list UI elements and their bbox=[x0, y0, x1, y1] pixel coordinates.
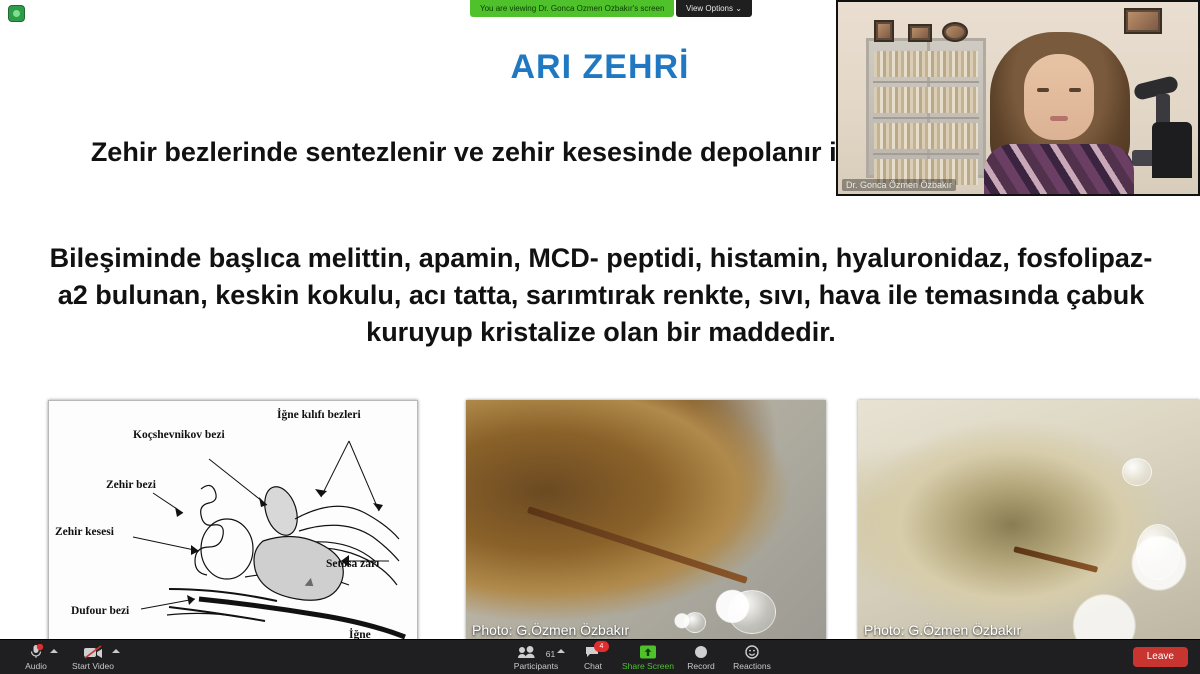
share-screen-icon bbox=[639, 644, 657, 659]
shelf bbox=[873, 153, 979, 155]
venom-droplet-large bbox=[1136, 524, 1180, 580]
start-video-button[interactable]: Start Video bbox=[62, 640, 124, 674]
participant-name-label: Dr. Gonca Özmen Özbakır bbox=[842, 179, 956, 191]
chat-icon: 4 bbox=[585, 644, 601, 659]
audio-options-caret-icon[interactable] bbox=[50, 649, 58, 653]
record-button[interactable]: Record bbox=[678, 640, 724, 674]
mouth bbox=[1050, 116, 1068, 121]
microphone-muted-icon bbox=[28, 644, 44, 659]
diagram-label: Zehir kesesi bbox=[55, 526, 114, 538]
participants-button[interactable]: 61 Participants bbox=[505, 640, 567, 674]
participants-icon: 61 bbox=[517, 644, 555, 659]
venom-droplet-small bbox=[1122, 458, 1152, 486]
camera-off-icon bbox=[83, 644, 103, 659]
view-options-label: View Options bbox=[686, 4, 733, 13]
picture-frame bbox=[908, 24, 932, 42]
smiley-icon-svg bbox=[745, 645, 759, 659]
camera-icon-svg bbox=[83, 645, 103, 659]
share-icon-svg bbox=[639, 645, 657, 659]
venom-sample-photo: Photo: G.Özmen Özbakır bbox=[858, 400, 1200, 640]
slide-paragraph-2: Bileşiminde başlıca melittin, apamin, MC… bbox=[46, 240, 1156, 351]
share-screen-button[interactable]: Share Screen bbox=[618, 640, 678, 674]
chat-unread-badge: 4 bbox=[594, 641, 609, 652]
photo-caption: Photo: G.Özmen Özbakır bbox=[864, 622, 1021, 638]
photo-caption: Photo: G.Özmen Özbakır bbox=[472, 622, 629, 638]
diagram-drawing: İğne kılıfı bezleri Koçshevnikov bezi Ze… bbox=[49, 401, 417, 640]
books-row bbox=[874, 51, 978, 77]
shelf bbox=[873, 117, 979, 119]
venom-droplet-small bbox=[684, 612, 706, 633]
diagram-label: Koçshevnikov bezi bbox=[133, 429, 225, 441]
people-icon-svg bbox=[517, 646, 543, 659]
diagram-label: Setosa zarı bbox=[326, 558, 379, 570]
bookcase bbox=[866, 38, 986, 178]
record-label: Record bbox=[687, 661, 714, 671]
reactions-icon bbox=[745, 644, 759, 659]
shelf bbox=[873, 81, 979, 83]
patterned-blouse bbox=[984, 144, 1134, 196]
chat-button[interactable]: 4 Chat bbox=[570, 640, 616, 674]
record-icon bbox=[694, 644, 708, 659]
webcam-background bbox=[838, 2, 1198, 194]
video-label: Start Video bbox=[72, 661, 114, 671]
participants-caret-icon[interactable] bbox=[557, 649, 565, 653]
participant-video-thumbnail[interactable]: Dr. Gonca Özmen Özbakır bbox=[836, 0, 1200, 196]
books-row bbox=[874, 87, 978, 113]
slide-image-row: İğne kılıfı bezleri Koçshevnikov bezi Ze… bbox=[0, 400, 1200, 640]
video-options-caret-icon[interactable] bbox=[112, 649, 120, 653]
venom-droplet-large bbox=[728, 590, 776, 634]
participants-label: Participants bbox=[514, 661, 558, 671]
diagram-label: Zehir bezi bbox=[106, 479, 156, 491]
mic-icon-svg bbox=[28, 644, 44, 659]
office-chair bbox=[1152, 122, 1192, 178]
eye-left bbox=[1037, 88, 1049, 92]
reactions-button[interactable]: Reactions bbox=[726, 640, 778, 674]
eye-right bbox=[1069, 88, 1081, 92]
face bbox=[1024, 54, 1094, 140]
books-row bbox=[874, 123, 978, 149]
bee-stinger-photo: Photo: G.Özmen Özbakır bbox=[466, 400, 826, 640]
bee-sting-apparatus-diagram: İğne kılıfı bezleri Koçshevnikov bezi Ze… bbox=[48, 400, 418, 640]
record-circle-icon-svg bbox=[694, 645, 708, 659]
chevron-down-icon: ⌄ bbox=[735, 4, 742, 13]
reactions-label: Reactions bbox=[733, 661, 771, 671]
participants-count: 61 bbox=[546, 649, 555, 659]
view-options-button[interactable]: View Options ⌄ bbox=[676, 0, 752, 17]
diagram-label: İğne kılıfı bezleri bbox=[277, 409, 361, 421]
chat-label: Chat bbox=[584, 661, 602, 671]
share-screen-label: Share Screen bbox=[622, 661, 674, 671]
decorative-plate bbox=[942, 22, 968, 42]
venom-photo-image bbox=[858, 400, 1200, 640]
participant-figure bbox=[984, 32, 1134, 196]
zoom-meeting-toolbar: Audio Start Video 61 Particip bbox=[0, 639, 1200, 674]
audio-label: Audio bbox=[25, 661, 47, 671]
wall-picture-frame bbox=[1124, 8, 1162, 34]
audio-button[interactable]: Audio bbox=[12, 640, 60, 674]
picture-frame bbox=[874, 20, 894, 42]
leave-meeting-button[interactable]: Leave bbox=[1133, 647, 1188, 667]
recording-indicator-icon bbox=[8, 5, 25, 22]
diagram-label: Dufour bezi bbox=[71, 605, 129, 617]
zoom-meeting-window: ARI ZEHRİ Zehir bezlerinde sentezlenir v… bbox=[0, 0, 1200, 674]
